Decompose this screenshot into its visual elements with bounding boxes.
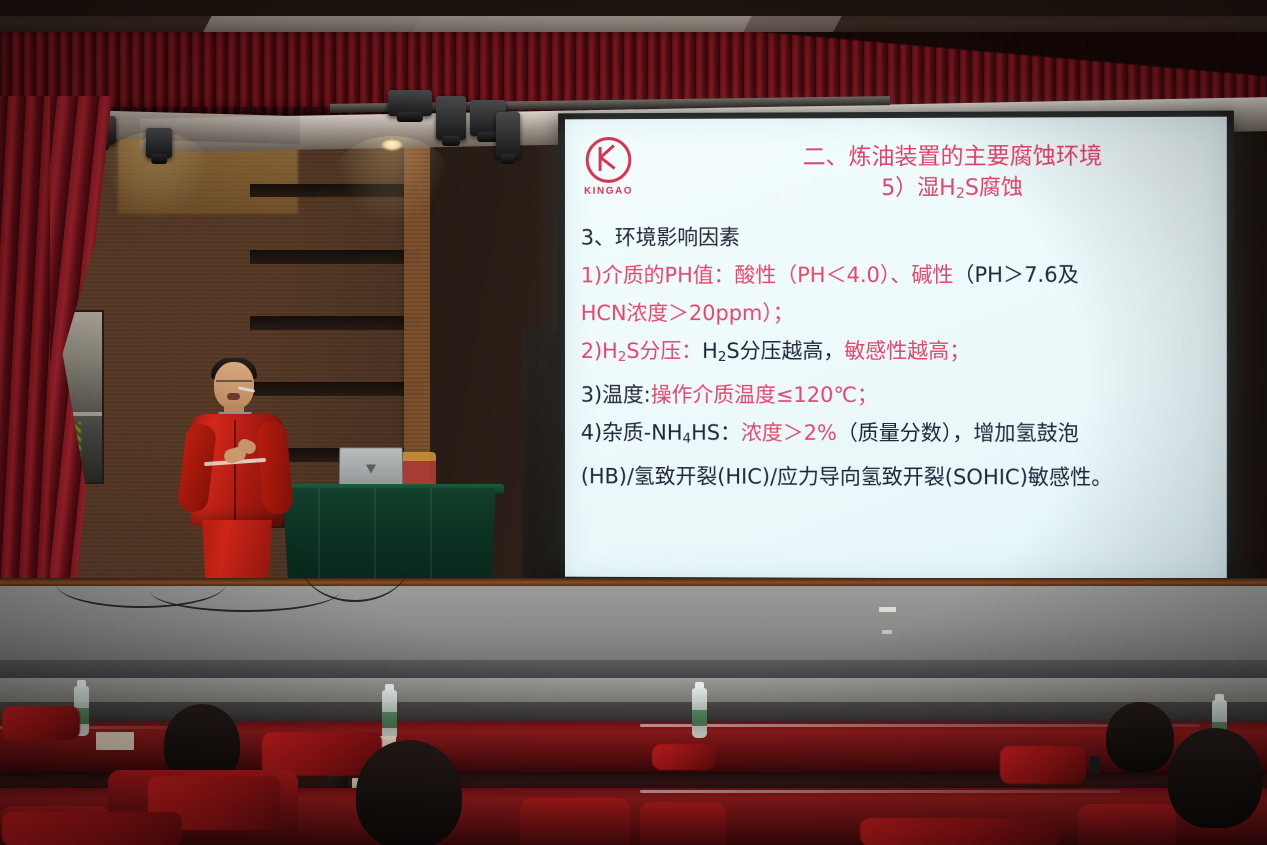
line2-sub2: 2 xyxy=(718,349,727,365)
water-bottle-3 xyxy=(692,688,707,738)
line4-part3: HS： xyxy=(691,421,741,445)
water-bottle-2 xyxy=(382,690,397,740)
wall-band-1 xyxy=(250,184,418,197)
line2-part7: 敏感性越高； xyxy=(844,339,970,363)
line2-sub1: 2 xyxy=(618,349,627,365)
draped-red-jacket-3 xyxy=(652,744,716,770)
bottle-cap-2 xyxy=(385,684,394,691)
slide-line-5: (HB)/氢致开裂(HIC)/应力导向氢致开裂(SOHIC)敏感性。 xyxy=(581,457,1219,496)
audience-head-2 xyxy=(356,740,462,845)
bottle-cap-3 xyxy=(695,682,704,689)
line2-part3: S分压： xyxy=(626,339,702,363)
draped-red-jacket-4 xyxy=(1000,746,1086,784)
audience-phone xyxy=(1090,756,1100,774)
stage-light-fixture-4 xyxy=(436,96,466,140)
slide-title: 二、炼油装置的主要腐蚀环境 xyxy=(692,141,1215,174)
draped-red-jacket-5 xyxy=(2,812,182,845)
conference-hall-photo: KINGAO 二、炼油装置的主要腐蚀环境 5）湿H2S腐蚀 3、环境影响因素 1… xyxy=(0,0,1267,845)
bottle-cap-4 xyxy=(1215,694,1224,701)
pa-speaker-cabinet xyxy=(522,330,562,580)
logo-stroke-lower xyxy=(600,156,616,169)
line3-part1: 3)温度: xyxy=(581,383,651,407)
line5-part1: (HB)/氢致开裂(HIC)/应力导向氢致开裂(SOHIC)敏感性。 xyxy=(581,464,1113,489)
kingao-wordmark: KINGAO xyxy=(573,186,644,197)
slide-line-4: 4)杂质-NH4HS：浓度＞2%（质量分数），增加氢鼓泡 xyxy=(581,414,1219,459)
line4-part4: 浓度＞2% xyxy=(741,421,837,445)
line4-part1: 4)杂质-NH xyxy=(581,421,683,445)
wall-band-2 xyxy=(250,250,420,264)
audience-head-4 xyxy=(1168,728,1262,828)
audience-seat-4 xyxy=(640,802,726,845)
stage-light-fixture-3 xyxy=(388,90,432,116)
slide-subtitle-prefix: 5）湿H xyxy=(881,176,956,201)
line2-part4: H xyxy=(702,339,718,363)
stage-light-lens-2 xyxy=(151,154,167,164)
name-card-1 xyxy=(96,732,134,750)
floor-cable-3 xyxy=(300,520,410,602)
slide-line-3: 3)温度:操作介质温度≤120℃； xyxy=(581,376,1219,415)
floor-tape-mark-1 xyxy=(879,607,896,612)
kingao-circle-k-logo-icon xyxy=(586,137,632,183)
line1b-part1: HCN浓度＞20ppm）； xyxy=(581,301,794,325)
line3-part2: 操作介质温度≤120℃； xyxy=(651,383,878,407)
line1-part3: （PH＞7.6及 xyxy=(953,263,1078,287)
presenter-mouth xyxy=(227,393,240,400)
line2-part1: 2)H xyxy=(581,339,618,363)
slide-line-1b: HCN浓度＞20ppm）； xyxy=(581,294,1219,332)
floor-tape-mark-2 xyxy=(882,630,892,634)
projection-screen: KINGAO 二、炼油装置的主要腐蚀环境 5）湿H2S腐蚀 3、环境影响因素 1… xyxy=(565,117,1227,580)
draped-red-jacket-1 xyxy=(2,706,80,740)
bottle-label-2 xyxy=(382,712,397,728)
wall-band-3 xyxy=(250,316,422,330)
laptop-logo-icon xyxy=(366,465,376,474)
stage-light-lens-4 xyxy=(442,136,460,146)
bottle-cap-1 xyxy=(77,680,86,687)
ceiling-shadow xyxy=(0,0,1267,16)
line2-part6: S分压越高， xyxy=(726,339,844,363)
draped-red-jacket-6 xyxy=(860,818,1060,845)
slide-subtitle-suffix: S腐蚀 xyxy=(965,176,1023,201)
stage-light-lens-6 xyxy=(501,154,515,164)
audience-head-3 xyxy=(1106,702,1174,772)
audience-area xyxy=(0,678,1267,845)
line1-part1: 1)介质的PH值：酸性（PH＜4.0）、 xyxy=(581,263,912,287)
slide-body: 3、环境影响因素 1)介质的PH值：酸性（PH＜4.0）、碱性（PH＞7.6及 … xyxy=(581,217,1219,497)
slide-line-2: 2)H2S分压：H2S分压越高，敏感性越高； xyxy=(581,332,1219,376)
slide-heading: 3、环境影响因素 xyxy=(581,217,1219,256)
audience-seat-5 xyxy=(1078,804,1176,845)
slide-content: KINGAO 二、炼油装置的主要腐蚀环境 5）湿H2S腐蚀 3、环境影响因素 1… xyxy=(565,117,1227,580)
stage-light-lens-3 xyxy=(397,112,423,122)
stage-light-fixture-2 xyxy=(146,128,172,158)
downlight-2 xyxy=(381,140,403,151)
slide-subtitle: 5）湿H2S腐蚀 xyxy=(692,173,1215,210)
line1-part2: 碱性 xyxy=(911,263,953,287)
slide-subtitle-sub: 2 xyxy=(956,186,965,202)
audience-seat-3 xyxy=(520,798,630,845)
audience-desk-highlight-front xyxy=(640,790,1120,793)
kingao-logo: KINGAO xyxy=(573,137,644,199)
bottle-label-3 xyxy=(692,710,707,726)
stage-light-fixture-6 xyxy=(496,112,520,158)
slide-line-1: 1)介质的PH值：酸性（PH＜4.0）、碱性（PH＞7.6及 xyxy=(581,255,1219,294)
jacket-zipper xyxy=(234,420,236,520)
line4-part5: （质量分数），增加氢鼓泡 xyxy=(837,421,1079,445)
